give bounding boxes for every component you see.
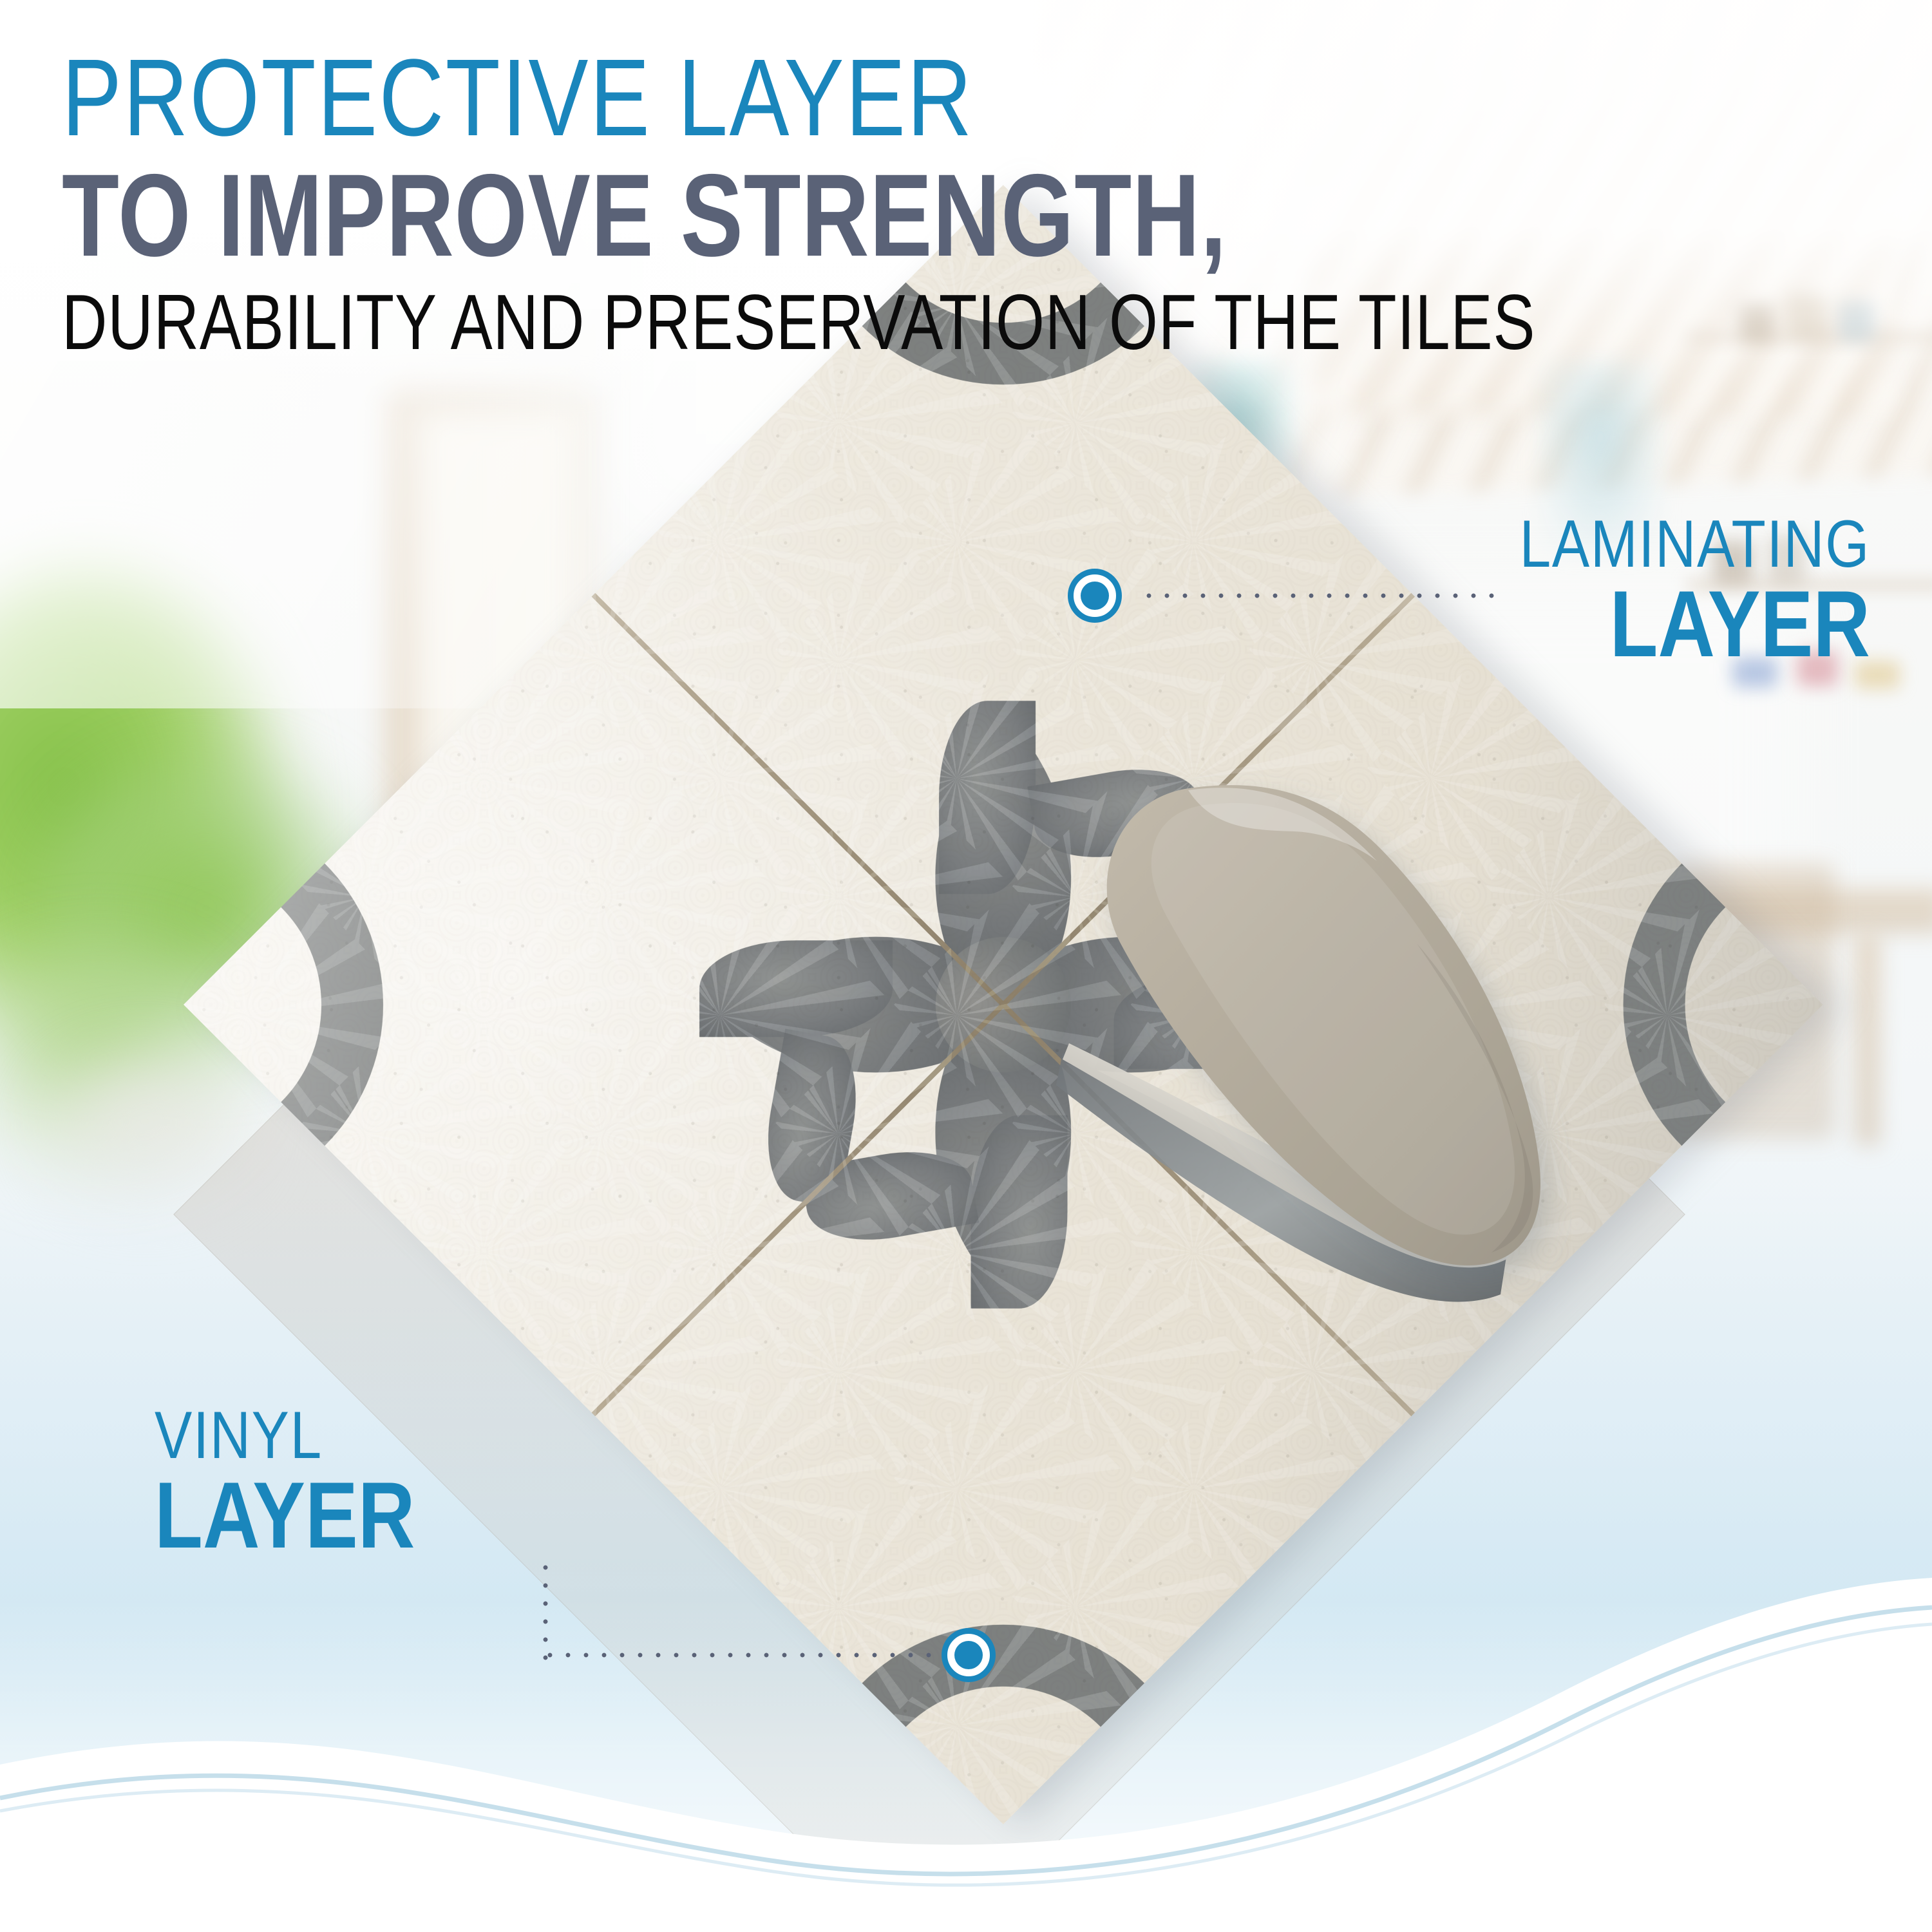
laminating-layer-label: LAMINATING LAYER	[1453, 513, 1870, 668]
headline-block: PROTECTIVE LAYER TO IMPROVE STRENGTH, DU…	[62, 45, 1672, 361]
vinyl-layer-label: VINYL LAYER	[155, 1404, 464, 1559]
laminating-label-bold: LAYER	[1520, 580, 1870, 668]
vinyl-label-bold: LAYER	[155, 1471, 415, 1559]
leader-line-laminating	[1140, 591, 1501, 600]
laminating-label-thin: LAMINATING	[1520, 513, 1870, 577]
headline-line-3: DURABILITY AND PRESERVATION OF THE TILES	[62, 283, 1350, 361]
headline-line-2: TO IMPROVE STRENGTH,	[62, 156, 1350, 274]
headline-line-1: PROTECTIVE LAYER	[62, 45, 1382, 151]
vinyl-label-thin: VINYL	[155, 1404, 415, 1468]
peel-corner-icon	[1056, 750, 1571, 1317]
bottom-wave-decoration	[0, 1571, 1932, 1932]
callout-marker-laminating[interactable]	[1068, 569, 1122, 623]
